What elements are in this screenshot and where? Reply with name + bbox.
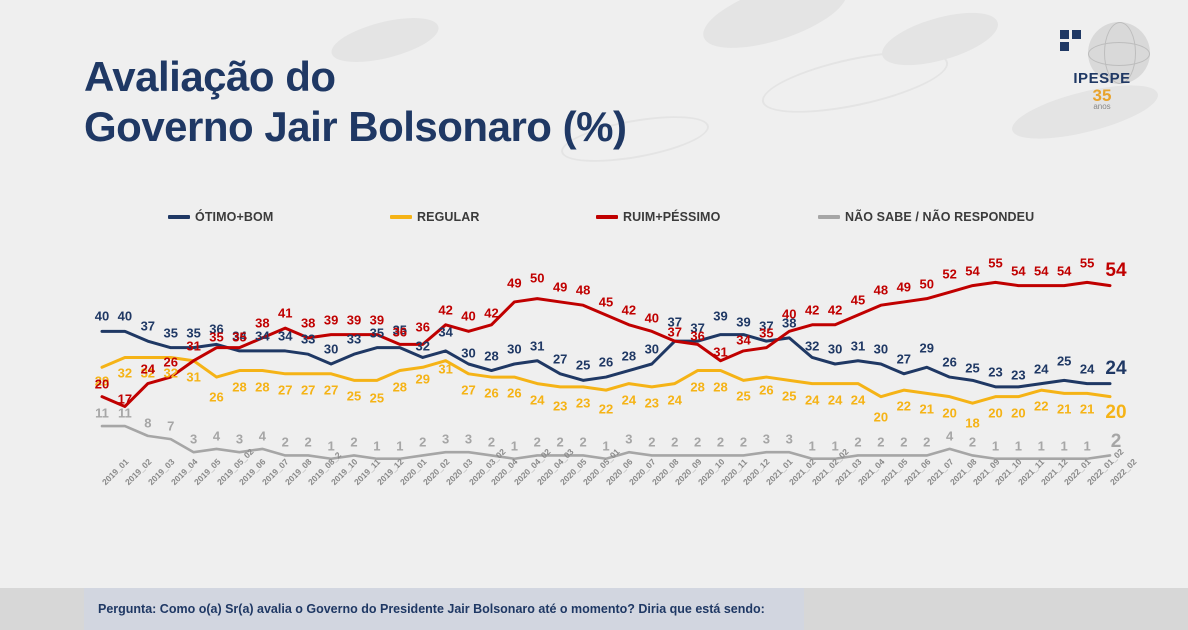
data-label-yellow-41: 22 xyxy=(1034,399,1048,414)
data-label-blue-22: 26 xyxy=(599,355,613,370)
logo-anos-label: anos xyxy=(1052,102,1152,111)
data-label-red-37: 52 xyxy=(942,267,956,282)
data-label-red-6: 35 xyxy=(232,329,246,344)
data-label-red-24: 40 xyxy=(645,311,659,326)
data-label-blue-23: 28 xyxy=(622,348,636,363)
data-label-yellow-33: 24 xyxy=(851,392,865,407)
data-label-grey-38: 2 xyxy=(969,435,976,450)
data-label-grey-43: 1 xyxy=(1083,438,1090,453)
data-label-grey-14: 2 xyxy=(419,435,426,450)
data-label-grey-4: 3 xyxy=(190,432,197,447)
data-label-red-29: 35 xyxy=(759,325,773,340)
chart-x-axis: 2019_012019_022019_032019_042019_052019_… xyxy=(84,480,1132,540)
data-label-grey-7: 4 xyxy=(259,428,266,443)
data-label-grey-8: 2 xyxy=(282,435,289,450)
data-label-blue-33: 31 xyxy=(851,338,865,353)
data-label-yellow-10: 27 xyxy=(324,382,338,397)
data-label-yellow-22: 22 xyxy=(599,402,613,417)
data-label-red-2: 24 xyxy=(141,361,155,376)
data-label-yellow-37: 20 xyxy=(942,405,956,420)
data-label-grey-1: 11 xyxy=(118,406,132,421)
data-label-red-12: 39 xyxy=(370,312,384,327)
data-label-yellow-21: 23 xyxy=(576,395,590,410)
data-label-red-23: 42 xyxy=(622,302,636,317)
data-label-grey-42: 1 xyxy=(1061,438,1068,453)
data-label-grey-12: 1 xyxy=(373,438,380,453)
data-label-blue-37: 26 xyxy=(942,355,956,370)
data-label-grey-35: 2 xyxy=(900,435,907,450)
data-label-grey-33: 2 xyxy=(854,435,861,450)
data-label-yellow-39: 20 xyxy=(988,405,1002,420)
data-label-red-11: 39 xyxy=(347,312,361,327)
data-label-blue-38: 25 xyxy=(965,361,979,376)
data-label-blue-10: 30 xyxy=(324,342,338,357)
data-label-red-36: 50 xyxy=(919,276,933,291)
legend-swatch-icon xyxy=(390,215,412,219)
data-label-grey-3: 7 xyxy=(167,419,174,434)
logo-name: IPESPE xyxy=(1052,70,1152,87)
data-label-yellow-6: 28 xyxy=(232,379,246,394)
data-label-red-4: 31 xyxy=(186,338,200,353)
data-label-red-10: 39 xyxy=(324,312,338,327)
chart-data-labels: 4040373535363434343330333535323430283031… xyxy=(84,248,1132,480)
data-label-red-3: 26 xyxy=(163,355,177,370)
question-text: Pergunta: Como o(a) Sr(a) avalia o Gover… xyxy=(84,588,804,630)
legend-label: REGULAR xyxy=(417,210,480,224)
data-label-red-33: 45 xyxy=(851,293,865,308)
data-label-yellow-18: 26 xyxy=(507,386,521,401)
data-label-red-13: 36 xyxy=(393,325,407,340)
data-label-blue-24: 30 xyxy=(645,342,659,357)
data-label-red-14: 36 xyxy=(415,320,429,335)
data-label-yellow-19: 24 xyxy=(530,392,544,407)
data-label-blue-0: 40 xyxy=(95,309,109,324)
data-label-blue-31: 32 xyxy=(805,339,819,354)
logo-square xyxy=(1060,30,1069,39)
data-label-red-22: 45 xyxy=(599,295,613,310)
data-label-red-30: 40 xyxy=(782,307,796,322)
data-label-blue-36: 29 xyxy=(919,341,933,356)
data-label-blue-40: 23 xyxy=(1011,367,1025,382)
data-label-yellow-40: 20 xyxy=(1011,405,1025,420)
data-label-red-41: 54 xyxy=(1034,263,1048,278)
decorative-ellipse-outline xyxy=(757,39,953,125)
logo-square xyxy=(1072,30,1081,39)
data-label-blue-18: 30 xyxy=(507,342,521,357)
legend-item-3[interactable]: NÃO SABE / NÃO RESPONDEU xyxy=(818,210,1034,224)
data-label-red-40: 54 xyxy=(1011,263,1025,278)
data-label-blue-15: 34 xyxy=(438,324,452,339)
decorative-ellipse xyxy=(696,0,855,62)
data-label-yellow-8: 27 xyxy=(278,382,292,397)
data-label-yellow-44: 20 xyxy=(1105,402,1126,424)
data-label-yellow-29: 26 xyxy=(759,383,773,398)
data-label-grey-37: 4 xyxy=(946,428,953,443)
data-label-grey-26: 2 xyxy=(694,435,701,450)
data-label-yellow-20: 23 xyxy=(553,398,567,413)
data-label-red-7: 38 xyxy=(255,315,269,330)
data-label-blue-16: 30 xyxy=(461,346,475,361)
data-label-yellow-4: 31 xyxy=(186,369,200,384)
data-label-blue-42: 25 xyxy=(1057,354,1071,369)
data-label-yellow-1: 32 xyxy=(118,366,132,381)
data-label-blue-1: 40 xyxy=(118,309,132,324)
data-label-grey-20: 2 xyxy=(557,435,564,450)
data-label-grey-28: 2 xyxy=(740,435,747,450)
data-label-yellow-43: 21 xyxy=(1080,402,1094,417)
data-label-grey-34: 2 xyxy=(877,435,884,450)
data-label-grey-31: 1 xyxy=(809,438,816,453)
chart-plot-area: 4040373535363434343330333535323430283031… xyxy=(84,248,1132,480)
data-label-grey-2: 8 xyxy=(144,415,151,430)
data-label-red-35: 49 xyxy=(897,279,911,294)
data-label-red-21: 48 xyxy=(576,283,590,298)
legend-label: RUIM+PÉSSIMO xyxy=(623,210,720,224)
data-label-yellow-12: 25 xyxy=(370,391,384,406)
data-label-blue-2: 37 xyxy=(141,319,155,334)
data-label-grey-17: 2 xyxy=(488,435,495,450)
data-label-grey-29: 3 xyxy=(763,432,770,447)
data-label-yellow-31: 24 xyxy=(805,392,819,407)
data-label-grey-0: 11 xyxy=(95,406,109,421)
legend-item-1[interactable]: REGULAR xyxy=(390,210,480,224)
data-label-blue-14: 32 xyxy=(415,339,429,354)
data-label-yellow-14: 29 xyxy=(415,372,429,387)
data-label-blue-28: 39 xyxy=(736,314,750,329)
data-label-grey-19: 2 xyxy=(534,435,541,450)
data-label-yellow-26: 28 xyxy=(690,379,704,394)
data-label-blue-9: 33 xyxy=(301,332,315,347)
data-label-grey-36: 2 xyxy=(923,435,930,450)
data-label-blue-41: 24 xyxy=(1034,361,1048,376)
data-label-blue-12: 35 xyxy=(370,325,384,340)
data-label-grey-23: 3 xyxy=(625,432,632,447)
data-label-grey-15: 3 xyxy=(442,432,449,447)
data-label-grey-6: 3 xyxy=(236,432,243,447)
data-label-grey-13: 1 xyxy=(396,438,403,453)
data-label-grey-16: 3 xyxy=(465,432,472,447)
ipespe-logo: IPESPE 35 anos xyxy=(1052,22,1152,114)
data-label-yellow-16: 27 xyxy=(461,382,475,397)
data-label-yellow-42: 21 xyxy=(1057,402,1071,417)
data-label-yellow-13: 28 xyxy=(393,379,407,394)
data-label-yellow-5: 26 xyxy=(209,390,223,405)
data-label-grey-27: 2 xyxy=(717,435,724,450)
legend-swatch-icon xyxy=(818,215,840,219)
data-label-red-16: 40 xyxy=(461,309,475,324)
data-label-red-31: 42 xyxy=(805,302,819,317)
data-label-yellow-23: 24 xyxy=(622,392,636,407)
data-label-red-38: 54 xyxy=(965,263,979,278)
data-label-grey-21: 2 xyxy=(579,435,586,450)
legend-swatch-icon xyxy=(596,215,618,219)
data-label-yellow-32: 24 xyxy=(828,392,842,407)
data-label-blue-21: 25 xyxy=(576,358,590,373)
data-label-yellow-7: 28 xyxy=(255,379,269,394)
data-label-yellow-28: 25 xyxy=(736,389,750,404)
data-label-blue-34: 30 xyxy=(874,342,888,357)
data-label-blue-32: 30 xyxy=(828,342,842,357)
data-label-red-5: 35 xyxy=(209,329,223,344)
legend-item-0[interactable]: ÓTIMO+BOM xyxy=(168,210,273,224)
data-label-red-19: 50 xyxy=(530,270,544,285)
data-label-red-20: 49 xyxy=(553,279,567,294)
data-label-blue-17: 28 xyxy=(484,348,498,363)
data-label-blue-39: 23 xyxy=(988,364,1002,379)
data-label-yellow-27: 28 xyxy=(713,379,727,394)
data-label-blue-8: 34 xyxy=(278,328,292,343)
data-label-red-42: 54 xyxy=(1057,263,1071,278)
data-label-red-34: 48 xyxy=(874,283,888,298)
data-label-blue-11: 33 xyxy=(347,332,361,347)
data-label-grey-11: 2 xyxy=(350,435,357,450)
data-label-grey-41: 1 xyxy=(1038,438,1045,453)
legend-swatch-icon xyxy=(168,215,190,219)
data-label-blue-7: 34 xyxy=(255,328,269,343)
data-label-red-26: 36 xyxy=(690,329,704,344)
data-label-grey-39: 1 xyxy=(992,438,999,453)
data-label-blue-27: 39 xyxy=(713,308,727,323)
data-label-red-15: 42 xyxy=(438,302,452,317)
data-label-grey-18: 1 xyxy=(511,438,518,453)
data-label-yellow-36: 21 xyxy=(919,402,933,417)
data-label-blue-20: 27 xyxy=(553,351,567,366)
data-label-red-25: 37 xyxy=(667,325,681,340)
data-label-yellow-25: 24 xyxy=(667,392,681,407)
data-label-red-39: 55 xyxy=(988,256,1002,271)
data-label-yellow-11: 25 xyxy=(347,389,361,404)
data-label-red-28: 34 xyxy=(736,332,750,347)
data-label-red-32: 42 xyxy=(828,302,842,317)
data-label-yellow-38: 18 xyxy=(965,416,979,431)
data-label-red-43: 55 xyxy=(1080,256,1094,271)
data-label-grey-24: 2 xyxy=(648,435,655,450)
data-label-red-9: 38 xyxy=(301,315,315,330)
data-label-yellow-24: 23 xyxy=(645,395,659,410)
legend-item-2[interactable]: RUIM+PÉSSIMO xyxy=(596,210,720,224)
legend-label: ÓTIMO+BOM xyxy=(195,210,273,224)
chart-legend: ÓTIMO+BOMREGULARRUIM+PÉSSIMONÃO SABE / N… xyxy=(168,210,1048,232)
data-label-yellow-34: 20 xyxy=(874,409,888,424)
data-label-yellow-30: 25 xyxy=(782,389,796,404)
data-label-grey-5: 4 xyxy=(213,428,220,443)
data-label-blue-19: 31 xyxy=(530,338,544,353)
data-label-grey-40: 1 xyxy=(1015,438,1022,453)
data-label-blue-43: 24 xyxy=(1080,361,1094,376)
data-label-yellow-15: 31 xyxy=(438,361,452,376)
data-label-blue-35: 27 xyxy=(897,351,911,366)
data-label-yellow-9: 27 xyxy=(301,382,315,397)
slide-root: Avaliação do Governo Jair Bolsonaro (%) … xyxy=(0,0,1188,630)
data-label-red-18: 49 xyxy=(507,275,521,290)
data-label-grey-9: 2 xyxy=(305,435,312,450)
data-label-red-8: 41 xyxy=(278,306,292,321)
data-label-red-44: 54 xyxy=(1105,260,1126,282)
data-label-yellow-17: 26 xyxy=(484,386,498,401)
data-label-yellow-35: 22 xyxy=(897,399,911,414)
data-label-red-27: 31 xyxy=(713,344,727,359)
page-title: Avaliação do Governo Jair Bolsonaro (%) xyxy=(84,52,626,151)
data-label-blue-44: 24 xyxy=(1105,358,1126,380)
data-label-red-0: 20 xyxy=(95,376,109,391)
data-label-red-17: 42 xyxy=(484,305,498,320)
data-label-blue-3: 35 xyxy=(163,325,177,340)
logo-square xyxy=(1060,42,1069,51)
data-label-grey-25: 2 xyxy=(671,435,678,450)
data-label-grey-30: 3 xyxy=(786,432,793,447)
legend-label: NÃO SABE / NÃO RESPONDEU xyxy=(845,210,1034,224)
